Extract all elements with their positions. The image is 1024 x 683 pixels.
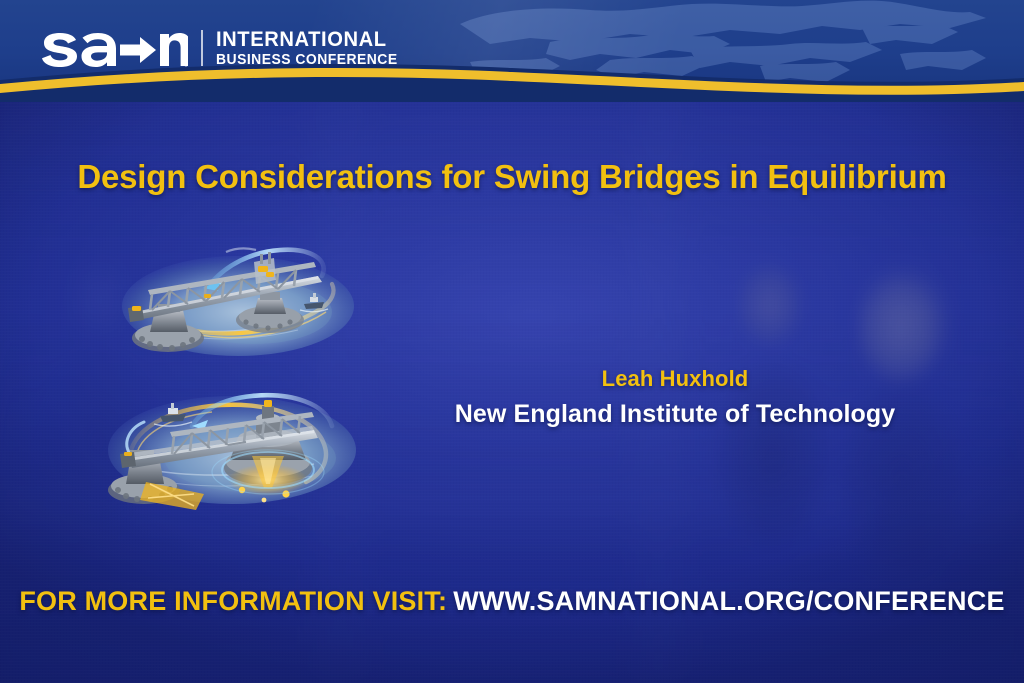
conference-name-line2: BUSINESS CONFERENCE [216,53,398,68]
swing-bridge-open-illustration [100,372,360,512]
conference-name: INTERNATIONAL BUSINESS CONFERENCE [216,29,405,68]
author-affiliation: New England Institute of Technology [430,400,920,429]
sam-arrow-logo-icon [36,26,188,70]
presentation-slide: INTERNATIONAL BUSINESS CONFERENCE Design… [0,0,1024,683]
author-block: Leah Huxhold New England Institute of Te… [430,366,920,429]
footer-info: FOR MORE INFORMATION VISIT:WWW.SAMNATION… [0,586,1024,617]
conference-name-line1: INTERNATIONAL [216,29,398,50]
page-title: Design Considerations for Swing Bridges … [0,158,1024,196]
footer-url[interactable]: WWW.SAMNATIONAL.ORG/CONFERENCE [453,586,1004,616]
swing-bridge-closed-illustration [108,236,356,362]
logo-divider [201,30,203,66]
sam-logo: INTERNATIONAL BUSINESS CONFERENCE [36,26,405,70]
footer-lead-text: FOR MORE INFORMATION VISIT: [19,586,447,616]
author-name: Leah Huxhold [430,366,920,392]
